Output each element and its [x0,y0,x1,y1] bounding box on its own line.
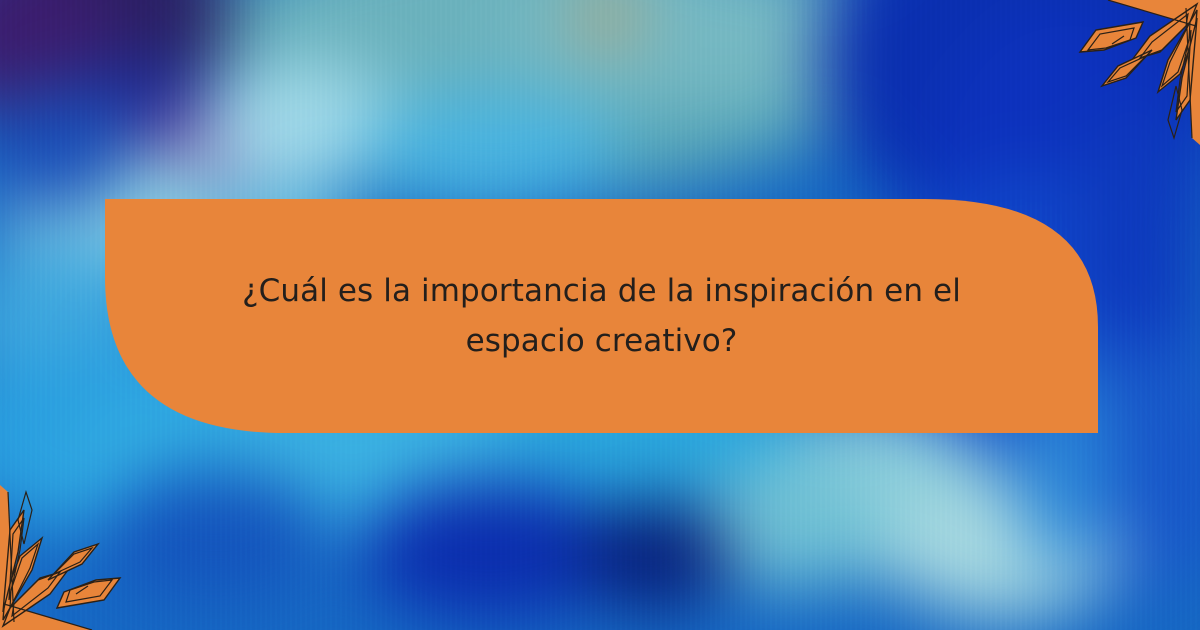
quote-banner-content: ¿Cuál es la importancia de la inspiració… [105,199,1098,433]
quote-text: ¿Cuál es la importancia de la inspiració… [207,266,997,366]
poster-canvas: ¿Cuál es la importancia de la inspiració… [0,0,1200,630]
